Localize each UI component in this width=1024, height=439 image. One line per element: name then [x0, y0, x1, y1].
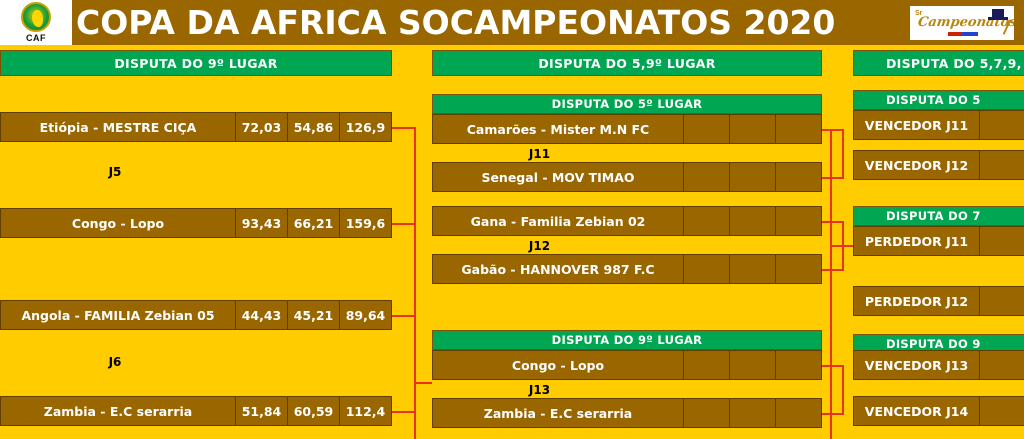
bracket-connector [392, 223, 416, 225]
caf-logo-text: CAF [26, 33, 46, 43]
caf-logo: CAF [0, 0, 72, 45]
score-cell [980, 350, 1024, 380]
score-cell [980, 150, 1024, 180]
table-row[interactable]: Camarões - Mister M.N FC [432, 114, 822, 144]
table-row[interactable]: VENCEDOR J14 [853, 396, 1024, 426]
table-row[interactable]: Gabão - HANNOVER 987 F.C [432, 254, 822, 284]
column-header-5-9th-place: DISPUTA DO 5,9º LUGAR [432, 50, 822, 76]
table-row[interactable]: VENCEDOR J13 [853, 350, 1024, 380]
table-row[interactable]: PERDEDOR J11 [853, 226, 1024, 256]
table-row[interactable]: VENCEDOR J12 [853, 150, 1024, 180]
bracket-connector [822, 413, 844, 415]
score-cell: 112,4 [340, 396, 392, 426]
score-cell [730, 398, 776, 428]
block-subheader-5th: DISPUTA DO 5 [853, 90, 1024, 110]
team-name: Gabão - HANNOVER 987 F.C [432, 254, 684, 284]
bracket-connector [822, 365, 844, 367]
score-cell: 126,9 [340, 112, 392, 142]
table-row[interactable]: Zambia - E.C serarria [432, 398, 822, 428]
sr-logo-red-bar [948, 32, 962, 36]
score-cell: 44,43 [236, 300, 288, 330]
table-row[interactable]: Congo - Lopo [432, 350, 822, 380]
team-name: VENCEDOR J14 [853, 396, 980, 426]
block-subheader-9th-place: DISPUTA DO 9º LUGAR [432, 330, 822, 350]
score-cell [730, 206, 776, 236]
bracket-connector [392, 127, 416, 129]
match-label: J5 [0, 165, 230, 179]
team-name: Angola - FAMILIA Zebian 05 [0, 300, 236, 330]
score-cell [730, 254, 776, 284]
team-name: Senegal - MOV TIMAO [432, 162, 684, 192]
score-cell [776, 206, 822, 236]
team-name: Zambia - E.C serarria [432, 398, 684, 428]
table-row[interactable]: Gana - Familia Zebian 02 [432, 206, 822, 236]
column-header-9th-place: DISPUTA DO 9º LUGAR [0, 50, 392, 76]
score-cell [776, 114, 822, 144]
score-cell [684, 350, 730, 380]
app-title-bar: CAF COPA DA AFRICA SOCAMPEONATOS 2020 Sr… [0, 0, 1024, 45]
table-row[interactable]: VENCEDOR J11 [853, 110, 1024, 140]
score-cell [776, 350, 822, 380]
score-cell: 159,6 [340, 208, 392, 238]
team-name: VENCEDOR J11 [853, 110, 980, 140]
score-cell: 72,03 [236, 112, 288, 142]
bracket-connector [822, 129, 844, 131]
sr-logo-blue-bar [962, 32, 978, 36]
column-header-5-7-9th-place: DISPUTA DO 5,7,9, 1 [853, 50, 1024, 76]
team-name: PERDEDOR J11 [853, 226, 980, 256]
score-cell: 54,86 [288, 112, 340, 142]
table-row[interactable]: Etiópia - MESTRE CIÇA 72,03 54,86 126,9 [0, 112, 392, 142]
table-row[interactable]: Congo - Lopo 93,43 66,21 159,6 [0, 208, 392, 238]
score-cell: 45,21 [288, 300, 340, 330]
team-name: Etiópia - MESTRE CIÇA [0, 112, 236, 142]
table-row[interactable]: Angola - FAMILIA Zebian 05 44,43 45,21 8… [0, 300, 392, 330]
team-name: Congo - Lopo [0, 208, 236, 238]
top-hat-icon [992, 9, 1004, 18]
score-cell [730, 350, 776, 380]
table-row[interactable]: Senegal - MOV TIMAO [432, 162, 822, 192]
score-cell [730, 162, 776, 192]
team-name: Camarões - Mister M.N FC [432, 114, 684, 144]
score-cell: 60,59 [288, 396, 340, 426]
team-name: Gana - Familia Zebian 02 [432, 206, 684, 236]
sr-campeonatos-logo: Sr Campeonatos [910, 6, 1014, 40]
block-subheader-5th-place: DISPUTA DO 5º LUGAR [432, 94, 822, 114]
bracket-connector [392, 315, 416, 317]
score-cell [776, 398, 822, 428]
score-cell: 66,21 [288, 208, 340, 238]
team-name: VENCEDOR J12 [853, 150, 980, 180]
team-name: Zambia - E.C serarria [0, 396, 236, 426]
block-subheader-7th: DISPUTA DO 7 [853, 206, 1024, 226]
bracket-connector [414, 176, 416, 439]
score-cell [980, 110, 1024, 140]
score-cell [684, 114, 730, 144]
score-cell [684, 162, 730, 192]
caf-emblem-icon [21, 2, 51, 32]
match-label: J12 [432, 239, 647, 253]
table-row[interactable]: Zambia - E.C serarria 51,84 60,59 112,4 [0, 396, 392, 426]
bracket-connector [822, 177, 844, 179]
score-cell: 89,64 [340, 300, 392, 330]
score-cell [684, 398, 730, 428]
bracket-connector [414, 382, 432, 384]
score-cell [980, 226, 1024, 256]
bracket-connector [830, 129, 832, 439]
score-cell [776, 254, 822, 284]
bracket-connector [392, 411, 416, 413]
page-title: COPA DA AFRICA SOCAMPEONATOS 2020 [76, 3, 910, 42]
match-label: J6 [0, 355, 230, 369]
bracket-connector [822, 269, 844, 271]
score-cell [684, 206, 730, 236]
score-cell: 51,84 [236, 396, 288, 426]
score-cell: 93,43 [236, 208, 288, 238]
score-cell [776, 162, 822, 192]
match-label: J13 [432, 383, 647, 397]
bracket-connector [842, 365, 844, 415]
score-cell [980, 396, 1024, 426]
score-cell [730, 114, 776, 144]
bracket-connector [822, 221, 844, 223]
score-cell [684, 254, 730, 284]
match-label: J11 [432, 147, 647, 161]
team-name: Congo - Lopo [432, 350, 684, 380]
team-name: VENCEDOR J13 [853, 350, 980, 380]
bracket-connector [842, 129, 844, 179]
score-cell [980, 286, 1024, 316]
table-row[interactable]: PERDEDOR J12 [853, 286, 1024, 316]
team-name: PERDEDOR J12 [853, 286, 980, 316]
